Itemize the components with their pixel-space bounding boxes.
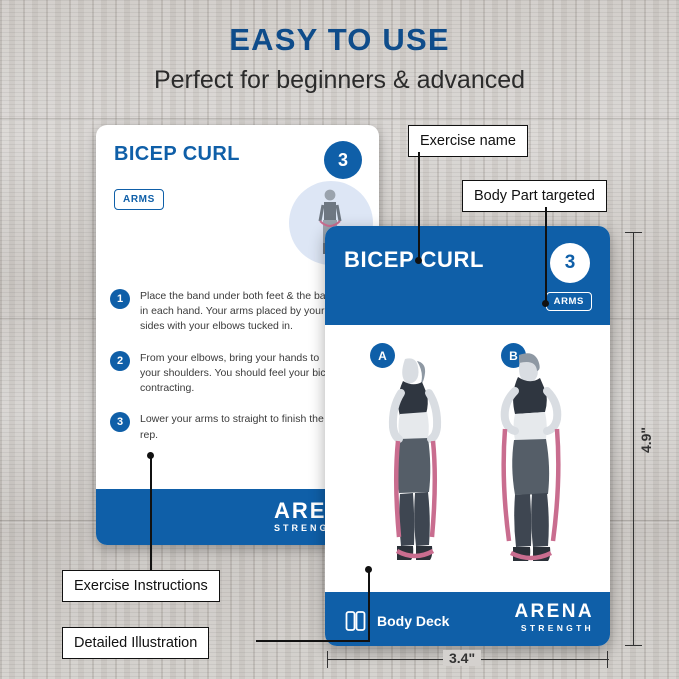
figure-a-illustration [343,337,463,577]
front-card-brand-sub: STRENGTH [514,624,594,633]
back-card-number-badge: 3 [324,141,362,179]
dimension-label-height: 4.9" [638,427,654,453]
page-headline: EASY TO USE [0,22,679,58]
leader-line-instructions [150,455,152,571]
leader-dot-exercise-name [415,257,422,264]
leader-line-illustration-h [256,640,370,642]
step-number: 3 [110,412,130,432]
step-text: Place the band under both feet & the ban… [140,289,340,335]
dimension-label-width: 3.4" [443,650,481,666]
leader-dot-instructions [147,452,154,459]
dimension-tick-height-bottom [625,645,642,646]
step-text: From your elbows, bring your hands to yo… [140,351,340,397]
page-subheadline: Perfect for beginners & advanced [0,66,679,95]
front-card-brand-name: ARENA [514,601,594,622]
step-number: 1 [110,289,130,309]
figure-b-illustration [475,337,595,577]
step-text: Lower your arms to straight to finish th… [140,412,340,442]
leader-line-body-part [545,207,547,303]
front-card-deck-label: Body Deck [377,613,449,629]
leader-line-exercise-name [418,152,420,260]
back-card-title: BICEP CURL [114,143,240,166]
back-card-bodypart-tag: ARMS [114,189,164,210]
cards-deck-icon [345,609,369,633]
dimension-tick-height-top [625,232,642,233]
leader-dot-illustration [365,566,372,573]
step-number: 2 [110,351,130,371]
front-card-bodypart-tag: ARMS [546,292,592,311]
front-card-brand: ARENA STRENGTH [514,602,594,633]
leader-dot-body-part [542,300,549,307]
dimension-tick-width-right [607,651,608,668]
dimension-tick-width-left [327,651,328,668]
callout-exercise-name: Exercise name [408,125,528,157]
callout-exercise-instructions: Exercise Instructions [62,570,220,602]
poster-canvas: EASY TO USE Perfect for beginners & adva… [0,0,679,679]
callout-body-part: Body Part targeted [462,180,607,212]
callout-detailed-illustration: Detailed Illustration [62,627,209,659]
front-card-number-badge: 3 [550,243,590,283]
leader-line-illustration-v [368,570,370,642]
plank-seam [0,118,679,121]
front-card-illustration-area: A B [325,325,610,592]
dimension-line-height [633,232,634,646]
